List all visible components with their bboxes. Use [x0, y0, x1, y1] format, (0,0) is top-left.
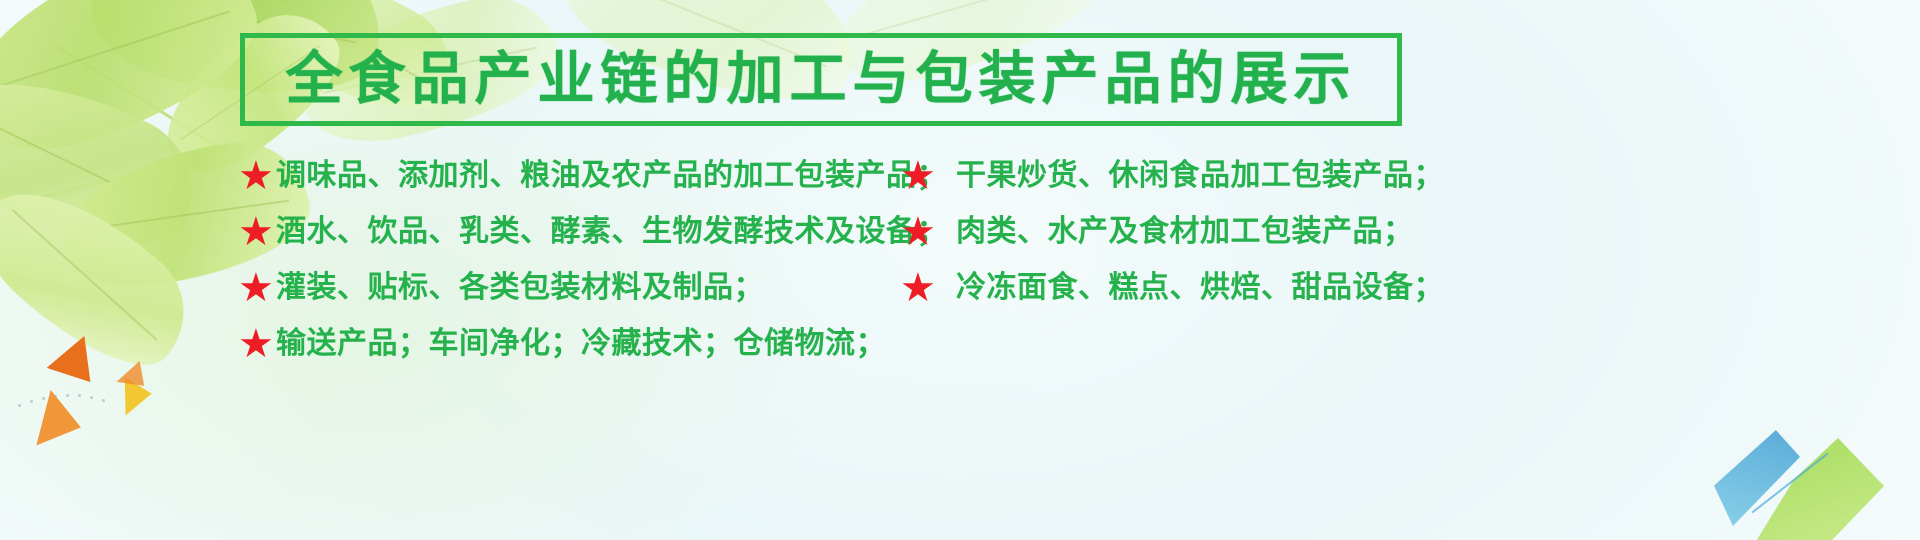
list-item: ★ 肉类、水产及食材加工包装产品；	[900, 204, 1560, 259]
star-icon: ★	[238, 271, 272, 305]
title-box: 全食品产业链的加工与包装产品的展示	[240, 33, 1402, 126]
list-item-label: 输送产品；车间净化；冷藏技术；仓储物流；	[276, 329, 886, 359]
star-icon: ★	[900, 159, 934, 193]
list-item-label: 调味品、添加剂、粮油及农产品的加工包装产品；	[276, 161, 947, 191]
list-item: ★ 输送产品；车间净化；冷藏技术；仓储物流；	[238, 316, 918, 371]
star-icon: ★	[238, 327, 272, 361]
promo-banner: 全食品产业链的加工与包装产品的展示 ★ 调味品、添加剂、粮油及农产品的加工包装产…	[0, 0, 1920, 540]
star-icon: ★	[900, 215, 934, 249]
list-item-label: 冷冻面食、糕点、烘焙、甜品设备；	[956, 273, 1444, 303]
list-item: ★ 干果炒货、休闲食品加工包装产品；	[900, 148, 1560, 203]
list-item-label: 干果炒货、休闲食品加工包装产品；	[956, 161, 1444, 191]
star-icon: ★	[900, 271, 934, 305]
banner-content: 全食品产业链的加工与包装产品的展示 ★ 调味品、添加剂、粮油及农产品的加工包装产…	[0, 0, 1920, 540]
star-icon: ★	[238, 215, 272, 249]
page-title: 全食品产业链的加工与包装产品的展示	[286, 51, 1357, 108]
star-icon: ★	[238, 159, 272, 193]
category-column-right: ★ 干果炒货、休闲食品加工包装产品； ★ 肉类、水产及食材加工包装产品； ★ 冷…	[900, 148, 1560, 316]
list-item-label: 酒水、饮品、乳类、酵素、生物发酵技术及设备；	[276, 217, 947, 247]
list-item: ★ 酒水、饮品、乳类、酵素、生物发酵技术及设备；	[238, 204, 918, 259]
list-item-label: 灌装、贴标、各类包装材料及制品；	[276, 273, 764, 303]
list-item: ★ 调味品、添加剂、粮油及农产品的加工包装产品；	[238, 148, 918, 203]
category-column-left: ★ 调味品、添加剂、粮油及农产品的加工包装产品； ★ 酒水、饮品、乳类、酵素、生…	[238, 148, 918, 372]
list-item: ★ 灌装、贴标、各类包装材料及制品；	[238, 260, 918, 315]
list-item: ★ 冷冻面食、糕点、烘焙、甜品设备；	[900, 260, 1560, 315]
list-item-label: 肉类、水产及食材加工包装产品；	[956, 217, 1414, 247]
